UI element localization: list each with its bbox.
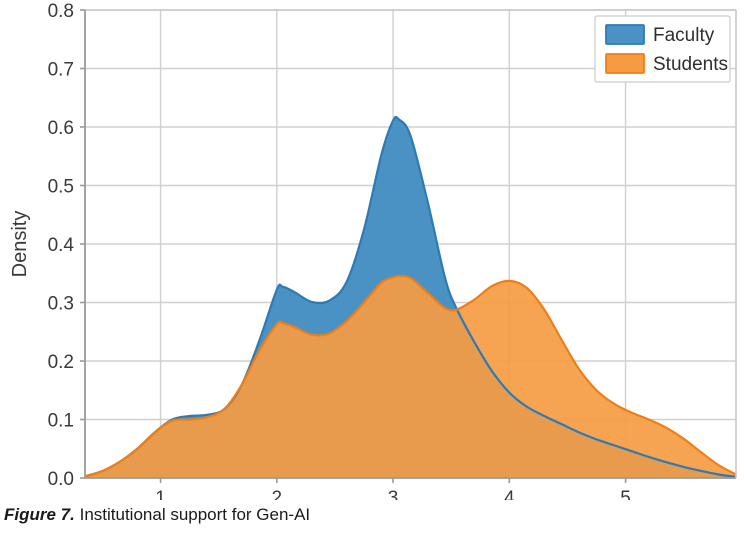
x-axis: 12345: [155, 478, 631, 500]
y-tick-label: 0.6: [48, 118, 74, 139]
y-axis: 0.00.10.20.30.40.50.60.70.8: [48, 1, 85, 490]
legend-label-students: Students: [653, 54, 728, 75]
y-tick-label: 0.3: [48, 294, 74, 315]
x-tick-label: 4: [504, 488, 515, 500]
legend-swatch-students: [606, 54, 644, 73]
chart-svg: 0.00.10.20.30.40.50.60.70.812345DensityF…: [0, 0, 744, 500]
y-tick-label: 0.7: [48, 60, 74, 81]
y-tick-label: 0.4: [48, 235, 75, 256]
y-tick-label: 0.8: [48, 1, 74, 22]
legend-swatch-faculty: [606, 25, 644, 44]
density-plot: 0.00.10.20.30.40.50.60.70.812345DensityF…: [0, 0, 744, 500]
figure-caption-label: Figure 7.: [4, 505, 75, 524]
y-tick-label: 0.5: [48, 177, 74, 198]
legend: FacultyStudents: [595, 16, 730, 82]
x-tick-label: 5: [620, 488, 631, 500]
y-axis-label: Density: [9, 211, 31, 278]
x-tick-label: 1: [155, 488, 166, 500]
x-tick-label: 2: [272, 488, 283, 500]
figure-caption-text: Institutional support for Gen-AI: [80, 505, 311, 524]
legend-label-faculty: Faculty: [653, 25, 715, 46]
x-tick-label: 3: [388, 488, 399, 500]
figure-caption: Figure 7. Institutional support for Gen-…: [4, 505, 740, 525]
y-tick-label: 0.2: [48, 352, 74, 373]
y-tick-label: 0.1: [48, 411, 74, 432]
y-tick-label: 0.0: [48, 469, 74, 490]
figure-container: 0.00.10.20.30.40.50.60.70.812345DensityF…: [0, 0, 744, 540]
